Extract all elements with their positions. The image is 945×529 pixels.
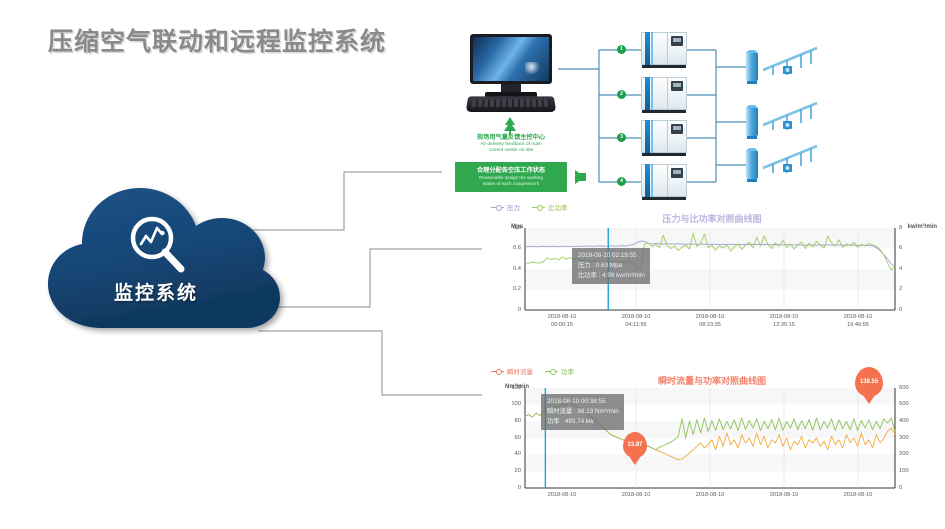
distribution-pipeline	[761, 99, 819, 133]
pressure-power-chart-panel[interactable]: 压力 比功率 压力与比功率对照曲线图 Mpa kw/m³/min 2018-08…	[483, 200, 941, 334]
slide-canvas: 压缩空气联动和远程监控系统	[0, 0, 945, 529]
x-axis-tick: 2018-08-10	[610, 491, 662, 499]
x-axis-tick: 2018-08-1008:23:35	[684, 313, 736, 329]
y2-axis-tick: 500	[899, 401, 921, 407]
magnifier-chart-icon	[126, 214, 190, 276]
chart1-tooltip: 2018-08-10 02:19:55 压力 : 0.63 Mpa 比功率 : …	[572, 248, 650, 284]
y-axis-tick: 60	[501, 435, 521, 441]
chart2-tooltip: 2018-08-10 00:38:55 瞬时流量 : 98.13 Nm³/min…	[541, 394, 624, 430]
y-axis-tick: 0.2	[501, 286, 521, 292]
flow-power-chart-panel[interactable]: 瞬时流量 功率 瞬时流量与功率对照曲线图 Nm³/min 2018-08-10 …	[483, 364, 941, 524]
y2-axis-tick: 100	[899, 468, 921, 474]
y2-axis-tick: 0	[899, 485, 921, 491]
y2-axis-tick: 400	[899, 418, 921, 424]
y2-axis-tick: 2	[899, 286, 921, 292]
min-value-marker[interactable]: 33.87	[623, 432, 647, 458]
monitoring-cloud[interactable]: 监控系统	[36, 178, 292, 338]
node-dot-1: 1	[617, 45, 626, 54]
compressor-unit	[641, 77, 687, 113]
y-axis-tick: 0	[501, 485, 521, 491]
system-diagram-panel: 现场用气量反馈主控中心 Air delivery feedback of mai…	[443, 22, 941, 200]
tooltip-line2: 功率 : 493.74 kw	[547, 417, 619, 427]
distribution-pipeline	[761, 142, 819, 176]
tooltip-line2: 比功率 : 4.99 kw/m³/min	[578, 271, 645, 281]
x-axis-tick: 2018-08-10	[536, 491, 588, 499]
cloud-label: 监控系统	[36, 278, 276, 305]
x-axis-tick: 2018-08-10	[684, 491, 736, 499]
x-axis-tick: 2018-08-1004:11:55	[610, 313, 662, 329]
node-dot-4: 4	[617, 177, 626, 186]
y2-axis-tick: 300	[899, 435, 921, 441]
x-axis-tick: 2018-08-10	[832, 491, 884, 499]
tooltip-time: 2018-08-10 00:38:55	[547, 397, 619, 407]
tooltip-line1: 瞬时流量 : 98.13 Nm³/min	[547, 407, 619, 417]
x-axis-tick: 2018-08-1012:35:15	[758, 313, 810, 329]
x-axis-tick: 2018-08-1000:00:15	[536, 313, 588, 329]
y2-axis-tick: 600	[899, 385, 921, 391]
x-axis-tick: 2018-08-1016:46:55	[832, 313, 884, 329]
compressor-unit	[641, 164, 687, 200]
marker-value: 33.87	[623, 432, 647, 458]
distribution-pipeline	[761, 44, 819, 78]
y-axis-tick: 0	[501, 307, 521, 313]
tooltip-time: 2018-08-10 02:19:55	[578, 251, 645, 261]
y2-axis-tick: 4	[899, 266, 921, 272]
diagram-wiring	[443, 22, 941, 200]
y2-axis-tick: 0	[899, 307, 921, 313]
y-axis-tick: 20	[501, 468, 521, 474]
y-axis-tick: 120	[501, 385, 521, 391]
y-axis-tick: 40	[501, 451, 521, 457]
y-axis-tick: 80	[501, 418, 521, 424]
air-tank	[746, 148, 758, 182]
marker-value: 138.55	[855, 367, 883, 397]
y-axis-tick: 0.6	[501, 245, 521, 251]
air-tank	[746, 50, 758, 84]
max-value-marker[interactable]: 138.55	[855, 367, 883, 397]
y-axis-tick: 0.8	[501, 225, 521, 231]
y-axis-tick: 0.4	[501, 266, 521, 272]
y2-axis-tick: 8	[899, 225, 921, 231]
air-tank	[746, 105, 758, 139]
x-axis-tick: 2018-08-10	[758, 491, 810, 499]
y-axis-tick: 100	[501, 401, 521, 407]
compressor-unit	[641, 32, 687, 68]
compressor-unit	[641, 120, 687, 156]
y2-axis-tick: 6	[899, 245, 921, 251]
y2-axis-tick: 200	[899, 451, 921, 457]
node-dot-2: 2	[617, 90, 626, 99]
tooltip-line1: 压力 : 0.63 Mpa	[578, 261, 645, 271]
node-dot-3: 3	[617, 133, 626, 142]
